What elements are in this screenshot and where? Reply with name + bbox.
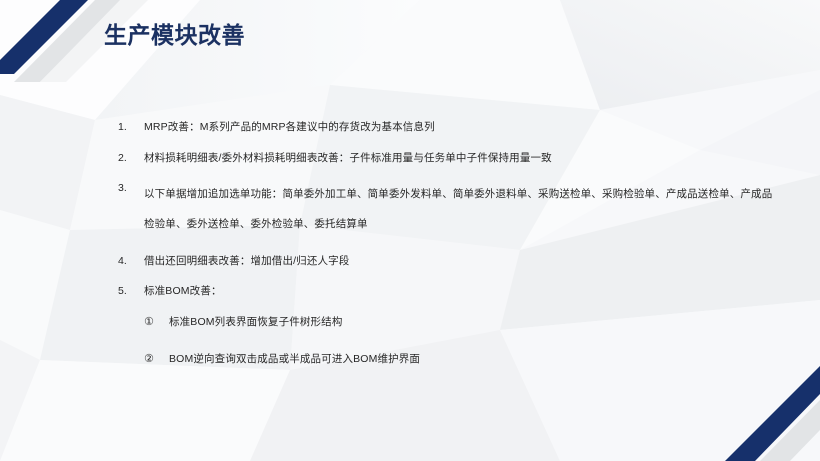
list-item-text: 以下单据增加追加选单功能：简单委外加工单、简单委外发料单、简单委外退料单、采购送…: [144, 179, 778, 239]
list-item: 5. 标准BOM改善：: [118, 282, 778, 300]
sub-list-item-text: BOM逆向查询双击成品或半成品可进入BOM维护界面: [169, 350, 778, 368]
top-left-navy-stripe: [0, 0, 88, 74]
list-item-text: MRP改善：M系列产品的MRP各建议中的存货改为基本信息列: [144, 118, 778, 136]
content-list: 1. MRP改善：M系列产品的MRP各建议中的存货改为基本信息列 2. 材料损耗…: [118, 118, 778, 387]
sub-list: ① 标准BOM列表界面恢复子件树形结构 ② BOM逆向查询双击成品或半成品可进入…: [144, 313, 778, 368]
list-item-marker: 4.: [118, 252, 144, 270]
list-item-marker: 3.: [118, 179, 144, 197]
list-item-marker: 5.: [118, 282, 144, 300]
slide: 生产模块改善 1. MRP改善：M系列产品的MRP各建议中的存货改为基本信息列 …: [0, 0, 820, 461]
sub-list-item-text: 标准BOM列表界面恢复子件树形结构: [169, 313, 778, 331]
list-item-marker: 2.: [118, 149, 144, 167]
bottom-right-gray-stripe: [760, 400, 820, 461]
list-item: 3. 以下单据增加追加选单功能：简单委外加工单、简单委外发料单、简单委外退料单、…: [118, 179, 778, 239]
list-item: 2. 材料损耗明细表/委外材料损耗明细表改善：子件标准用量与任务单中子件保持用量…: [118, 149, 778, 167]
page-title: 生产模块改善: [104, 22, 245, 50]
sub-list-item-marker: ①: [144, 313, 169, 331]
sub-list-item-marker: ②: [144, 350, 169, 368]
list-item-text: 借出还回明细表改善：增加借出/归还人字段: [144, 252, 778, 270]
list-item-marker: 1.: [118, 118, 144, 136]
sub-list-item: ① 标准BOM列表界面恢复子件树形结构: [144, 313, 778, 331]
list-item: 4. 借出还回明细表改善：增加借出/归还人字段: [118, 252, 778, 270]
sub-list-item: ② BOM逆向查询双击成品或半成品可进入BOM维护界面: [144, 350, 778, 368]
list-item-text: 标准BOM改善：: [144, 282, 778, 300]
list-item-text: 材料损耗明细表/委外材料损耗明细表改善：子件标准用量与任务单中子件保持用量一致: [144, 149, 778, 167]
list-item: 1. MRP改善：M系列产品的MRP各建议中的存货改为基本信息列: [118, 118, 778, 136]
